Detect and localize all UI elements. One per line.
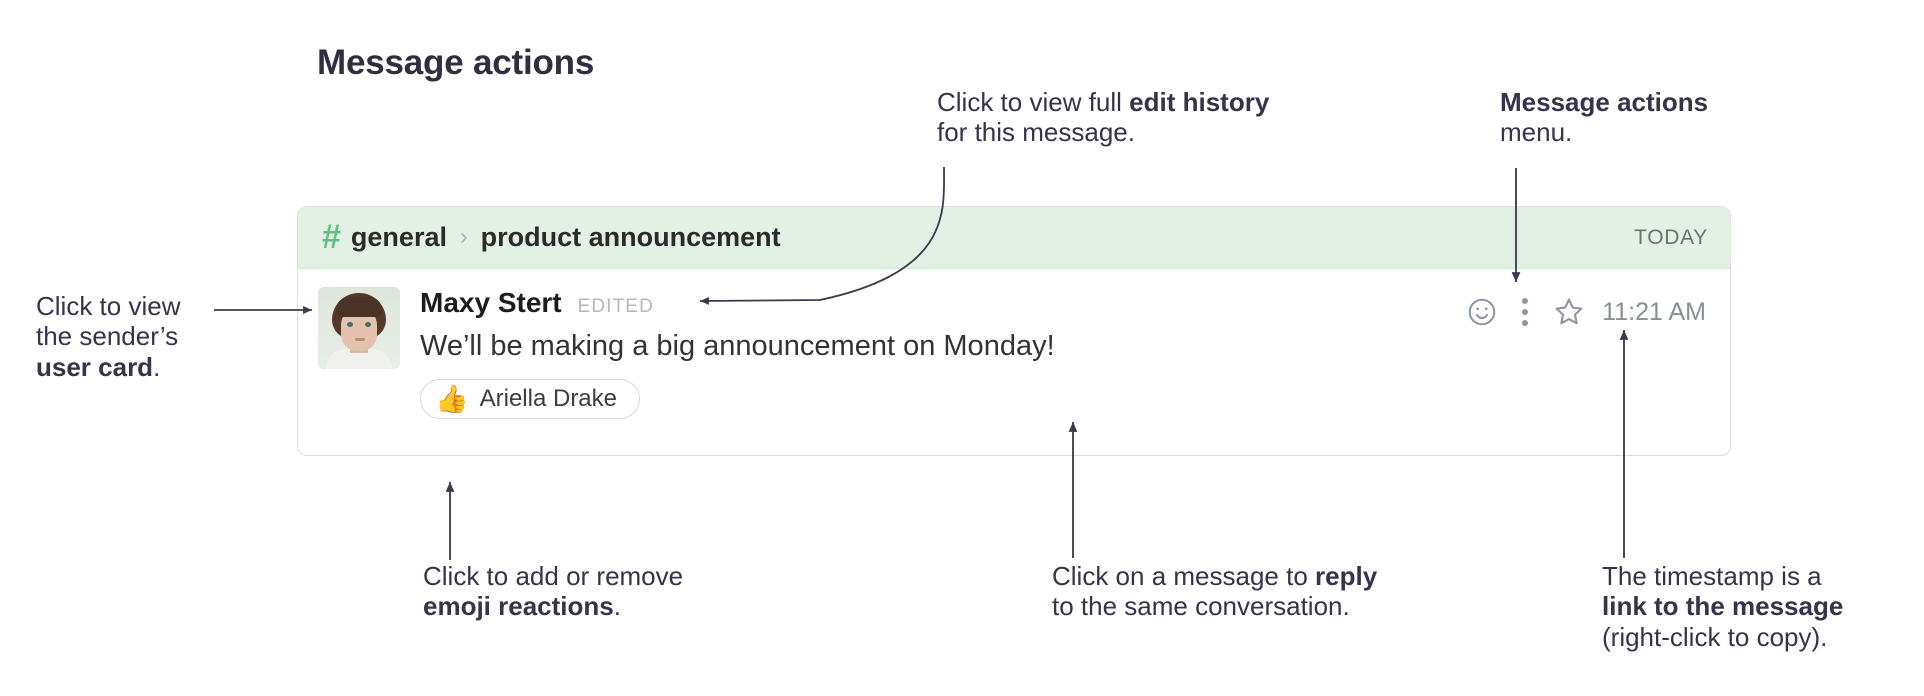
message-controls: 11:21 AM <box>1466 295 1706 329</box>
figure-canvas: Message actions # general › product anno… <box>0 0 1924 696</box>
reaction-users: Ariella Drake <box>480 385 617 413</box>
recipient-date-label: TODAY <box>1634 226 1708 250</box>
annotation-emoji-reactions: Click to add or remove emoji reactions. <box>423 561 763 622</box>
annotation-edit-history: Click to view full edit history for this… <box>937 87 1357 148</box>
annotation-text: the sender’s <box>36 321 178 351</box>
emoji-react-icon[interactable] <box>1466 296 1498 328</box>
recipient-bar[interactable]: # general › product announcement TODAY <box>298 207 1730 269</box>
annotation-actions-menu: Message actions menu. <box>1500 87 1800 148</box>
stream-name-link[interactable]: general <box>351 222 447 253</box>
chevron-right-icon: › <box>460 223 468 250</box>
annotation-timestamp: The timestamp is a link to the message (… <box>1602 561 1922 652</box>
message-timestamp-link[interactable]: 11:21 AM <box>1602 298 1706 327</box>
annotation-text: Click to view full <box>937 87 1129 117</box>
annotation-emphasis: emoji reactions <box>423 591 614 621</box>
topic-name-link[interactable]: product announcement <box>481 222 781 253</box>
annotation-text: . <box>153 352 160 382</box>
annotation-emphasis: user card <box>36 352 153 382</box>
avatar[interactable] <box>318 287 400 369</box>
annotation-emphasis: edit history <box>1129 87 1269 117</box>
star-icon[interactable] <box>1552 295 1586 329</box>
hash-icon: # <box>322 220 341 254</box>
message-text[interactable]: We’ll be making a big announcement on Mo… <box>420 328 1708 364</box>
reaction-row: 👍 Ariella Drake <box>420 379 1708 419</box>
annotation-text: (right-click to copy). <box>1602 622 1827 652</box>
annotation-text: for this message. <box>937 117 1135 147</box>
annotation-user-card: Click to view the sender’s user card. <box>36 291 256 382</box>
reaction-pill[interactable]: 👍 Ariella Drake <box>420 379 640 419</box>
actions-menu-icon[interactable] <box>1520 298 1530 326</box>
thumbs-up-icon: 👍 <box>435 386 469 413</box>
annotation-text: The timestamp is a <box>1602 561 1822 591</box>
message-row[interactable]: Maxy Stert EDITED We’ll be making a big … <box>298 269 1730 419</box>
annotation-reply: Click on a message to reply to the same … <box>1052 561 1452 622</box>
annotation-emphasis: Message actions <box>1500 87 1708 117</box>
sender-name[interactable]: Maxy Stert <box>420 287 562 319</box>
annotation-text: Click to view <box>36 291 180 321</box>
annotation-text: Click on a message to <box>1052 561 1315 591</box>
annotation-text: to the same conversation. <box>1052 591 1350 621</box>
page-title: Message actions <box>317 43 594 83</box>
edited-label[interactable]: EDITED <box>578 296 654 318</box>
annotation-text: menu. <box>1500 117 1572 147</box>
message-card: # general › product announcement TODAY <box>297 206 1731 456</box>
annotation-emphasis: link to the message <box>1602 591 1843 621</box>
annotation-text: Click to add or remove <box>423 561 683 591</box>
annotation-emphasis: reply <box>1315 561 1377 591</box>
annotation-text: . <box>614 591 621 621</box>
